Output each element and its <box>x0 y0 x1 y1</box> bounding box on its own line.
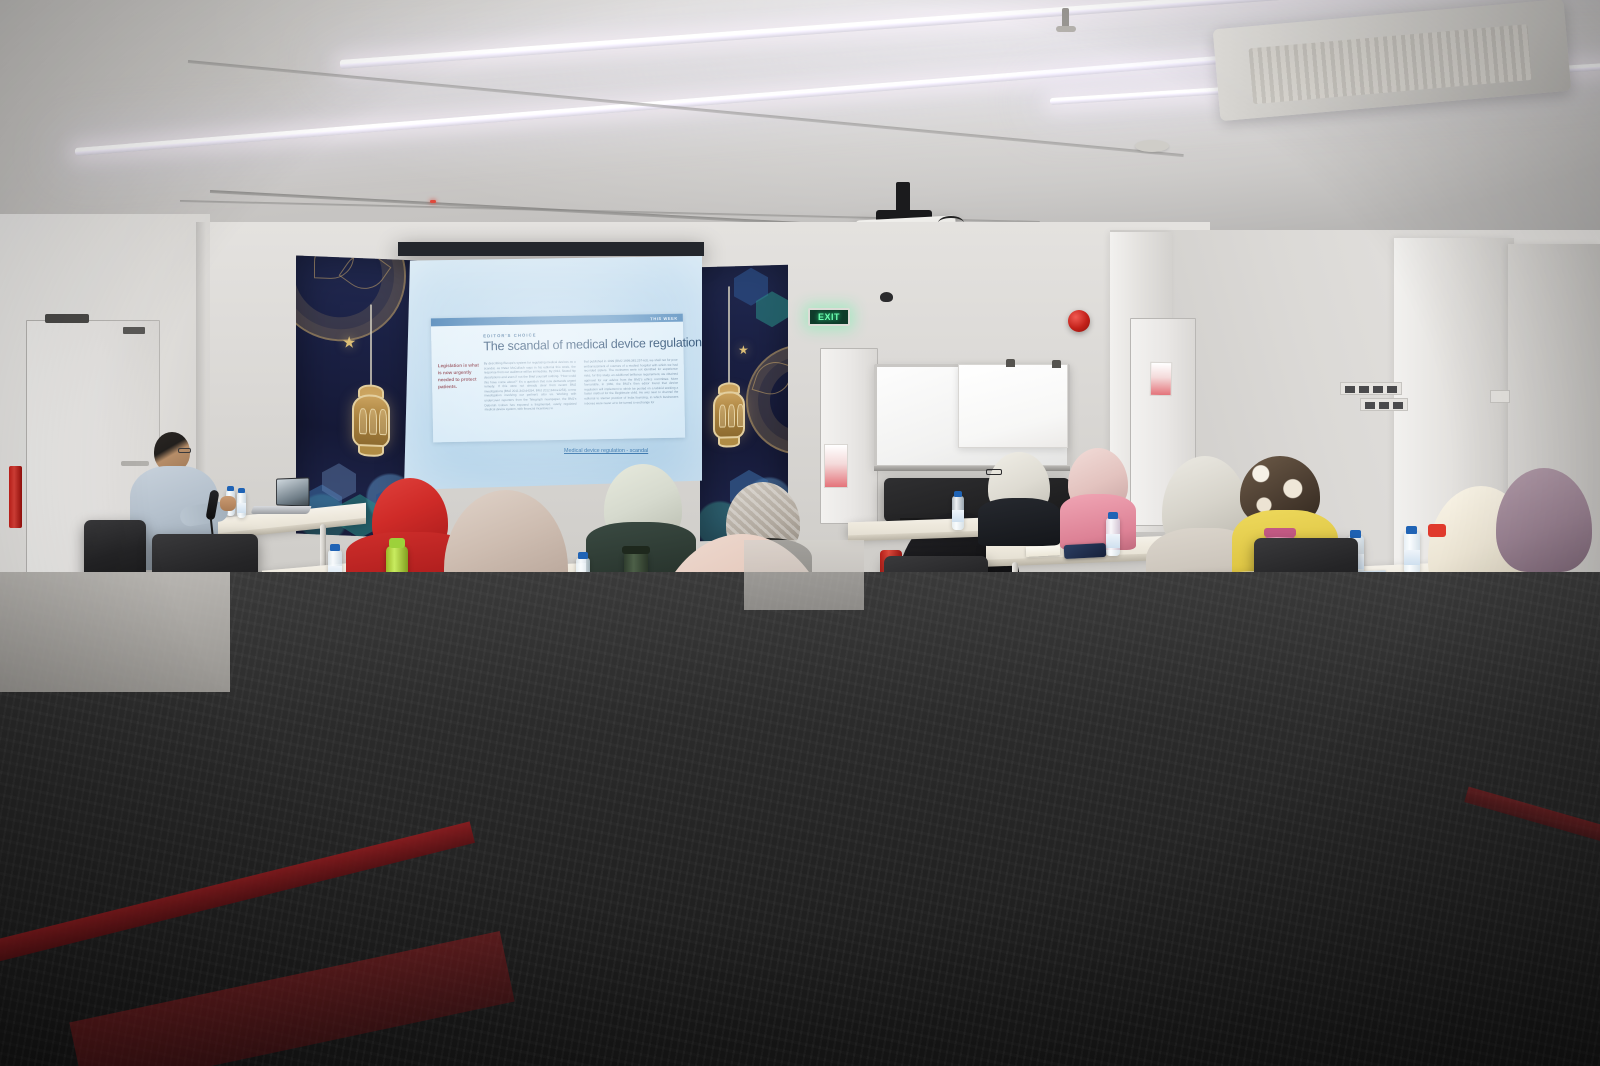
door-right[interactable] <box>820 348 878 524</box>
bottle-cap <box>1108 512 1118 519</box>
slide-pullquote: Legislation is what is now urgently need… <box>438 362 481 391</box>
floor-tile-light-2 <box>744 540 864 610</box>
slide-body-left: By describing Europe's system for regula… <box>484 360 577 438</box>
classroom-photo: EXIT ★ <box>0 0 1600 1066</box>
lantern-icon <box>713 391 745 440</box>
laptop-screen <box>276 477 309 506</box>
tumbler-lid <box>1264 528 1296 537</box>
ceiling-indicator-light <box>430 200 436 203</box>
bottle-cap <box>1350 530 1361 538</box>
flipchart-clip-right <box>1052 360 1061 368</box>
door-closer-icon <box>45 314 89 323</box>
door-sign <box>123 327 145 334</box>
bottle-cap <box>238 488 245 493</box>
wall-switch-plate-bottom[interactable] <box>1360 398 1408 411</box>
wall-notice <box>824 444 848 488</box>
star-icon: ★ <box>342 335 356 352</box>
mandala-motif <box>746 343 788 456</box>
papers <box>1026 545 1060 557</box>
attendee-white-hijab-glasses <box>978 452 1064 538</box>
switch-key[interactable] <box>1393 402 1403 409</box>
presenter-glasses-icon <box>178 448 191 453</box>
glasses-icon <box>986 469 1002 475</box>
water-bottle <box>1106 518 1120 556</box>
lantern-icon <box>352 394 390 450</box>
ac-grille <box>1248 24 1532 104</box>
star-icon: ★ <box>738 344 749 356</box>
switch-key[interactable] <box>1379 402 1389 409</box>
lantern-window <box>728 404 735 427</box>
water-bottle <box>237 492 246 518</box>
flipchart-clip-left <box>1006 359 1015 367</box>
sprinkler-head-icon <box>1056 26 1076 32</box>
wall-notice-2 <box>1150 362 1173 396</box>
fire-extinguisher <box>9 466 22 528</box>
lantern-rope <box>728 286 730 386</box>
lantern-window <box>719 405 726 428</box>
green-bottle-cap <box>389 538 405 548</box>
bottle-cap <box>954 491 962 497</box>
floor-tile-light <box>0 572 230 692</box>
torso <box>1060 494 1136 550</box>
torso <box>978 498 1060 546</box>
wall-panel-right <box>1490 390 1510 403</box>
exit-sign-label: EXIT <box>818 312 840 322</box>
flip-chart <box>958 364 1068 448</box>
lantern-window <box>359 408 367 434</box>
hijab <box>1496 468 1592 572</box>
bottle-label <box>237 503 246 513</box>
attendee-blush-hijab <box>1060 448 1140 544</box>
lantern-window <box>379 409 387 435</box>
switch-key[interactable] <box>1387 386 1397 393</box>
projection-screen-frame <box>398 242 704 256</box>
wall-switch-plate-top[interactable] <box>1340 382 1402 395</box>
presenter-hand <box>220 496 236 511</box>
slide-hyperlink[interactable]: Medical device regulation - scandal <box>564 448 648 454</box>
bottle-cap <box>330 544 340 551</box>
switch-key[interactable] <box>1359 386 1369 393</box>
lantern-base <box>358 444 384 457</box>
slide-kicker: EDITOR'S CHOICE <box>483 332 537 338</box>
lantern-window <box>369 409 377 435</box>
lantern-base <box>718 436 740 448</box>
slide-article-card: THIS WEEK EDITOR'S CHOICE The scandal of… <box>431 314 685 443</box>
bottle-label <box>1106 534 1120 548</box>
lantern-window <box>737 404 744 427</box>
lantern-rope <box>370 305 372 391</box>
slide-body-right: that published in 1999 (BMJ 1999;381:257… <box>584 358 679 436</box>
laptop-base <box>250 506 311 514</box>
smoke-detector-icon <box>1135 140 1169 152</box>
switch-key[interactable] <box>1373 386 1383 393</box>
fire-alarm-bell <box>1068 310 1090 332</box>
exit-sign: EXIT <box>808 308 850 326</box>
slide-title: The scandal of medical device regulation <box>483 335 702 353</box>
switch-key[interactable] <box>1345 386 1355 393</box>
smartphone[interactable] <box>1064 543 1107 559</box>
slide-masthead-bar: THIS WEEK <box>431 314 683 327</box>
bottle-label <box>952 510 964 522</box>
slide-masthead-label: THIS WEEK <box>650 316 678 322</box>
red-bottle-cap-held <box>1428 524 1446 537</box>
projection-screen: THIS WEEK EDITOR'S CHOICE The scandal of… <box>404 256 702 490</box>
security-camera-icon <box>880 292 893 302</box>
water-bottle <box>952 496 964 530</box>
switch-key[interactable] <box>1365 402 1375 409</box>
